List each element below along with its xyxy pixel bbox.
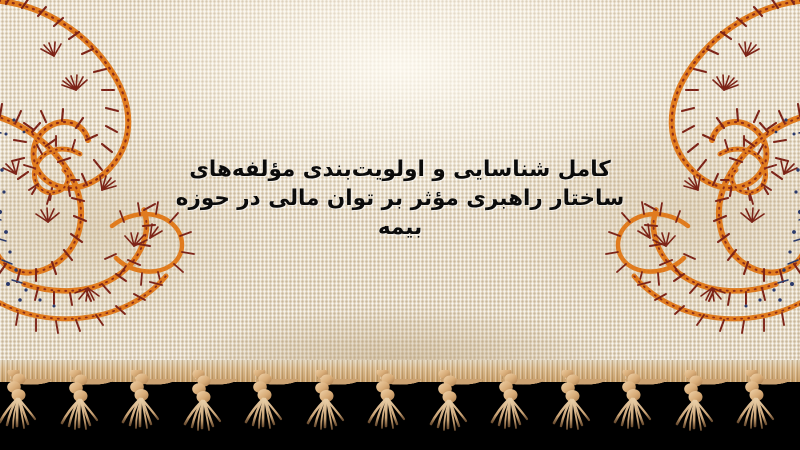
title-line-3: بیمه: [0, 213, 800, 242]
title-slide: کامل شناسایی و اولویت‌بندی مؤلفه‌های ساخ…: [0, 0, 800, 450]
title-line-2: ساختار راهبری مؤثر بر توان مالی در حوزه: [0, 184, 800, 213]
title-line-1: کامل شناسایی و اولویت‌بندی مؤلفه‌های: [0, 155, 800, 184]
tasseled-fringe-border: [0, 370, 800, 450]
page-title: کامل شناسایی و اولویت‌بندی مؤلفه‌های ساخ…: [0, 155, 800, 242]
tassel-row: [0, 370, 773, 430]
